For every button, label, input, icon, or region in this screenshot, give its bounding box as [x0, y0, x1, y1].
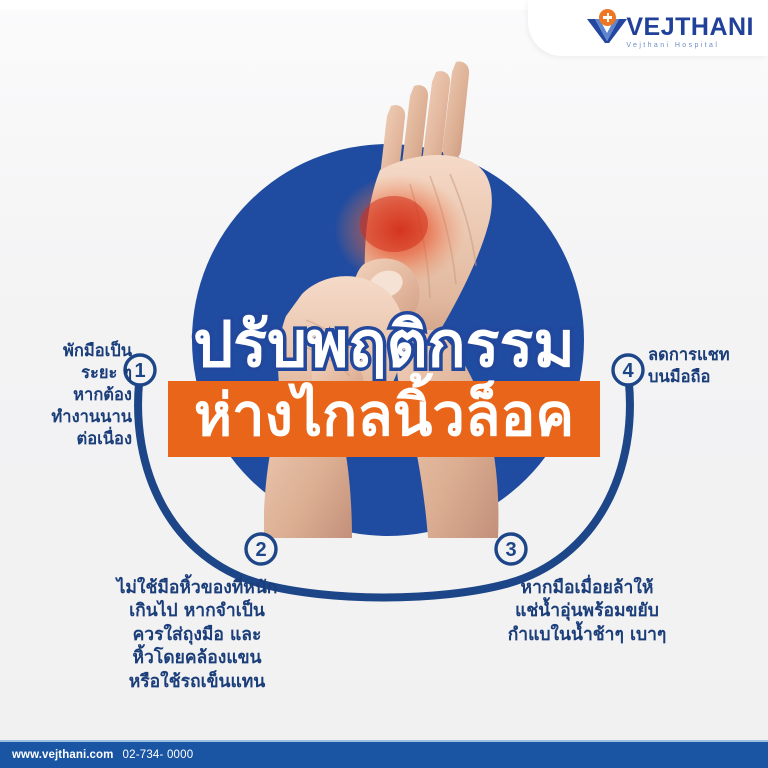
tip-4-line-1: ลดการแชท — [648, 344, 768, 366]
logo-name: VEJTHANI — [626, 15, 754, 40]
tip-3-line-2: แช่น้ำอุ่นพร้อมขยับ — [462, 600, 712, 623]
tip-4-line-2: บนมือถือ — [648, 366, 768, 388]
tip-text-1: พักมือเป็น ระยะ ๆ หากต้อง ทำงานนาน ต่อเน… — [6, 340, 132, 451]
tip-3-line-1: หากมือเมื่อยล้าให้ — [462, 577, 712, 600]
tip-2-line-4: หิ้วโดยคล้องแขน — [66, 647, 328, 670]
tip-1-line-2: ระยะ ๆ — [6, 362, 132, 384]
tip-1-line-3: หากต้อง — [6, 384, 132, 406]
tip-1-line-4: ทำงานนาน — [6, 406, 132, 428]
tip-2-line-5: หรือใช้รถเข็นแทน — [66, 671, 328, 694]
logo-panel: VEJTHANI Vejthani Hospital — [528, 0, 768, 56]
logo-text: VEJTHANI Vejthani Hospital — [626, 9, 754, 49]
footer-bar: www.vejthani.com 02-734- 0000 — [0, 740, 768, 768]
logo-mark — [585, 9, 631, 45]
hands-illustration — [260, 58, 530, 538]
footer-website[interactable]: www.vejthani.com — [12, 749, 114, 761]
tip-number-3: 3 — [505, 539, 516, 561]
footer-phone[interactable]: 02-734- 0000 — [123, 749, 194, 761]
tip-3-line-3: กำแบในน้ำช้าๆ เบาๆ — [462, 624, 712, 647]
tip-number-2-circle — [246, 534, 276, 564]
infographic-poster: VEJTHANI Vejthani Hospital — [0, 0, 768, 768]
tip-text-4: ลดการแชท บนมือถือ — [648, 344, 768, 388]
tip-2-line-1: ไม่ใช้มือหิ้วของที่หนัก — [66, 577, 328, 600]
tip-2-line-3: ควรใส่ถุงมือ และ — [66, 624, 328, 647]
hands-photo — [260, 58, 530, 538]
vejthani-logo[interactable]: VEJTHANI Vejthani Hospital — [585, 9, 754, 47]
tip-text-2: ไม่ใช้มือหิ้วของที่หนัก เกินไป หากจำเป็น… — [66, 577, 328, 694]
tip-text-3: หากมือเมื่อยล้าให้ แช่น้ำอุ่นพร้อมขยับ ก… — [462, 577, 712, 647]
headline-line-2: ห่างไกลนิ้วล็อค — [194, 381, 574, 449]
headline-banner: ห่างไกลนิ้วล็อค — [168, 381, 600, 457]
tip-1-line-5: ต่อเนื่อง — [6, 428, 132, 450]
tip-2-line-2: เกินไป หากจำเป็น — [66, 600, 328, 623]
tip-number-3-circle — [496, 534, 526, 564]
tip-1-line-1: พักมือเป็น — [6, 340, 132, 362]
logo-subtitle: Vejthani Hospital — [626, 42, 754, 49]
tip-number-2: 2 — [255, 539, 266, 561]
